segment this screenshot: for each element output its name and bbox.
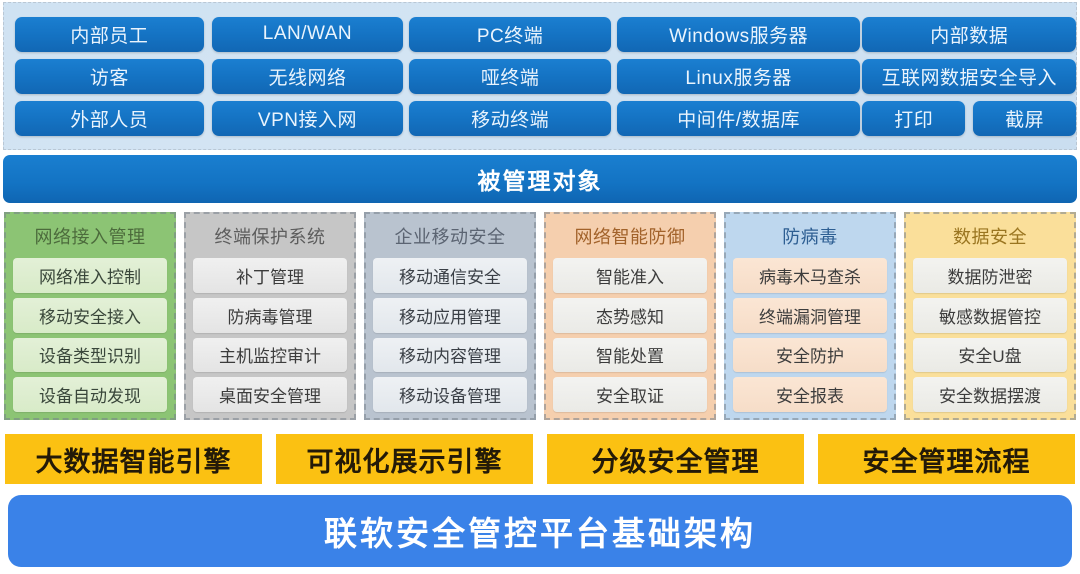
column-title: 网络接入管理 bbox=[13, 219, 167, 253]
column-item[interactable]: 安全取证 bbox=[553, 377, 707, 412]
top-group-terminal: PC终端 哑终端 移动终端 bbox=[403, 17, 611, 136]
capability-columns: 网络接入管理 网络准入控制 移动安全接入 设备类型识别 设备自动发现 终端保护系… bbox=[4, 212, 1076, 420]
engine-graded-security-management[interactable]: 分级安全管理 bbox=[547, 434, 804, 484]
chip-pc-terminal[interactable]: PC终端 bbox=[409, 17, 611, 52]
chip-dumb-terminal[interactable]: 哑终端 bbox=[409, 59, 611, 94]
managed-objects-panel: 内部员工 访客 外部人员 LAN/WAN 无线网络 VPN接入网 PC终端 哑终… bbox=[3, 2, 1077, 150]
chip-windows-server[interactable]: Windows服务器 bbox=[617, 17, 861, 52]
chip-external-personnel[interactable]: 外部人员 bbox=[15, 101, 204, 136]
top-group-data: 内部数据 互联网数据安全导入 打印 截屏 bbox=[860, 17, 1076, 136]
platform-foundation-banner: 联软安全管控平台基础架构 bbox=[8, 495, 1072, 567]
column-item[interactable]: 移动应用管理 bbox=[373, 298, 527, 333]
column-data-security[interactable]: 数据安全 数据防泄密 敏感数据管控 安全U盘 安全数据摆渡 bbox=[904, 212, 1076, 420]
column-title: 终端保护系统 bbox=[193, 219, 347, 253]
column-title: 网络智能防御 bbox=[553, 219, 707, 253]
column-item[interactable]: 安全U盘 bbox=[913, 338, 1067, 373]
top-group-network: LAN/WAN 无线网络 VPN接入网 bbox=[204, 17, 404, 136]
top-group-server: Windows服务器 Linux服务器 中间件/数据库 bbox=[611, 17, 861, 136]
chip-lan-wan[interactable]: LAN/WAN bbox=[212, 17, 404, 52]
engine-visualization-display[interactable]: 可视化展示引擎 bbox=[276, 434, 533, 484]
chip-visitor[interactable]: 访客 bbox=[15, 59, 204, 94]
column-item[interactable]: 病毒木马查杀 bbox=[733, 258, 887, 293]
chip-internet-data-secure-import[interactable]: 互联网数据安全导入 bbox=[862, 59, 1076, 94]
column-item[interactable]: 主机监控审计 bbox=[193, 338, 347, 373]
chip-middleware-database[interactable]: 中间件/数据库 bbox=[617, 101, 861, 136]
chip-internal-data[interactable]: 内部数据 bbox=[862, 17, 1076, 52]
engine-bigdata-intelligence[interactable]: 大数据智能引擎 bbox=[5, 434, 262, 484]
column-title: 数据安全 bbox=[913, 219, 1067, 253]
column-item[interactable]: 桌面安全管理 bbox=[193, 377, 347, 412]
chip-vpn-access-network[interactable]: VPN接入网 bbox=[212, 101, 404, 136]
column-item[interactable]: 安全数据摆渡 bbox=[913, 377, 1067, 412]
chip-wireless-network[interactable]: 无线网络 bbox=[212, 59, 404, 94]
managed-objects-banner: 被管理对象 bbox=[3, 155, 1077, 203]
column-item[interactable]: 设备类型识别 bbox=[13, 338, 167, 373]
chip-internal-staff[interactable]: 内部员工 bbox=[15, 17, 204, 52]
column-item[interactable]: 敏感数据管控 bbox=[913, 298, 1067, 333]
column-network-access-management[interactable]: 网络接入管理 网络准入控制 移动安全接入 设备类型识别 设备自动发现 bbox=[4, 212, 176, 420]
column-item[interactable]: 网络准入控制 bbox=[13, 258, 167, 293]
chip-row-output: 打印 截屏 bbox=[862, 101, 1076, 136]
column-item[interactable]: 终端漏洞管理 bbox=[733, 298, 887, 333]
column-anti-virus[interactable]: 防病毒 病毒木马查杀 终端漏洞管理 安全防护 安全报表 bbox=[724, 212, 896, 420]
column-item[interactable]: 态势感知 bbox=[553, 298, 707, 333]
column-item[interactable]: 移动安全接入 bbox=[13, 298, 167, 333]
column-enterprise-mobile-security[interactable]: 企业移动安全 移动通信安全 移动应用管理 移动内容管理 移动设备管理 bbox=[364, 212, 536, 420]
chip-mobile-terminal[interactable]: 移动终端 bbox=[409, 101, 611, 136]
column-title: 企业移动安全 bbox=[373, 219, 527, 253]
column-item[interactable]: 移动设备管理 bbox=[373, 377, 527, 412]
column-item[interactable]: 智能处置 bbox=[553, 338, 707, 373]
column-title: 防病毒 bbox=[733, 219, 887, 253]
top-group-people: 内部员工 访客 外部人员 bbox=[4, 17, 204, 136]
column-network-intelligent-defense[interactable]: 网络智能防御 智能准入 态势感知 智能处置 安全取证 bbox=[544, 212, 716, 420]
column-item[interactable]: 安全防护 bbox=[733, 338, 887, 373]
column-item[interactable]: 防病毒管理 bbox=[193, 298, 347, 333]
chip-screenshot[interactable]: 截屏 bbox=[973, 101, 1076, 136]
column-item[interactable]: 智能准入 bbox=[553, 258, 707, 293]
column-item[interactable]: 移动通信安全 bbox=[373, 258, 527, 293]
column-item[interactable]: 数据防泄密 bbox=[913, 258, 1067, 293]
column-item[interactable]: 设备自动发现 bbox=[13, 377, 167, 412]
column-endpoint-protection-system[interactable]: 终端保护系统 补丁管理 防病毒管理 主机监控审计 桌面安全管理 bbox=[184, 212, 356, 420]
column-item[interactable]: 移动内容管理 bbox=[373, 338, 527, 373]
chip-linux-server[interactable]: Linux服务器 bbox=[617, 59, 861, 94]
engine-row: 大数据智能引擎 可视化展示引擎 分级安全管理 安全管理流程 bbox=[5, 434, 1075, 484]
column-item[interactable]: 补丁管理 bbox=[193, 258, 347, 293]
engine-security-management-process[interactable]: 安全管理流程 bbox=[818, 434, 1075, 484]
chip-print[interactable]: 打印 bbox=[862, 101, 965, 136]
column-item[interactable]: 安全报表 bbox=[733, 377, 887, 412]
